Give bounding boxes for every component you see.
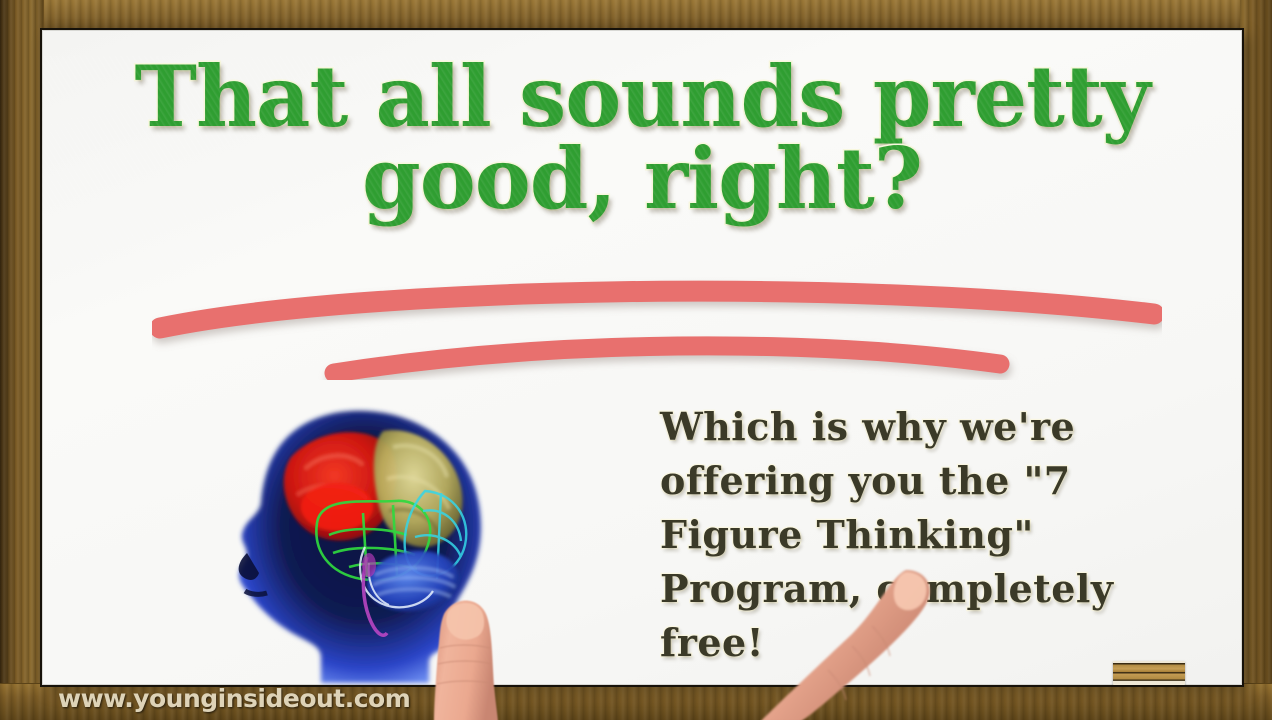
- frame-right-grain: [1240, 0, 1272, 720]
- body-line-5: free!: [660, 616, 1180, 670]
- headline-line-2: good, right?: [42, 138, 1242, 220]
- watermark: www.younginsideout.com: [58, 684, 410, 713]
- frame-left-grain: [0, 0, 44, 720]
- underline-stroke-bottom: [334, 346, 1000, 373]
- page-title: That all sounds pretty good, right?: [42, 56, 1242, 221]
- headline-line-1: That all sounds pretty: [42, 56, 1242, 138]
- body-line-1: Which is why we're: [660, 400, 1180, 454]
- brain-head-illustration: [217, 395, 527, 685]
- whiteboard-surface: That all sounds pretty good, right?: [42, 30, 1242, 685]
- red-double-underline: [152, 260, 1162, 380]
- frame-top-rail: [0, 0, 1272, 30]
- body-line-2: offering you the "7: [660, 454, 1180, 508]
- body-line-3: Figure Thinking": [660, 508, 1180, 562]
- whiteboard-eraser[interactable]: [1113, 661, 1185, 685]
- body-copy: Which is why we're offering you the "7 F…: [660, 400, 1180, 670]
- slide-stage: That all sounds pretty good, right?: [0, 0, 1272, 720]
- body-line-4: Program, completely: [660, 562, 1180, 616]
- underline-stroke-top: [160, 291, 1154, 328]
